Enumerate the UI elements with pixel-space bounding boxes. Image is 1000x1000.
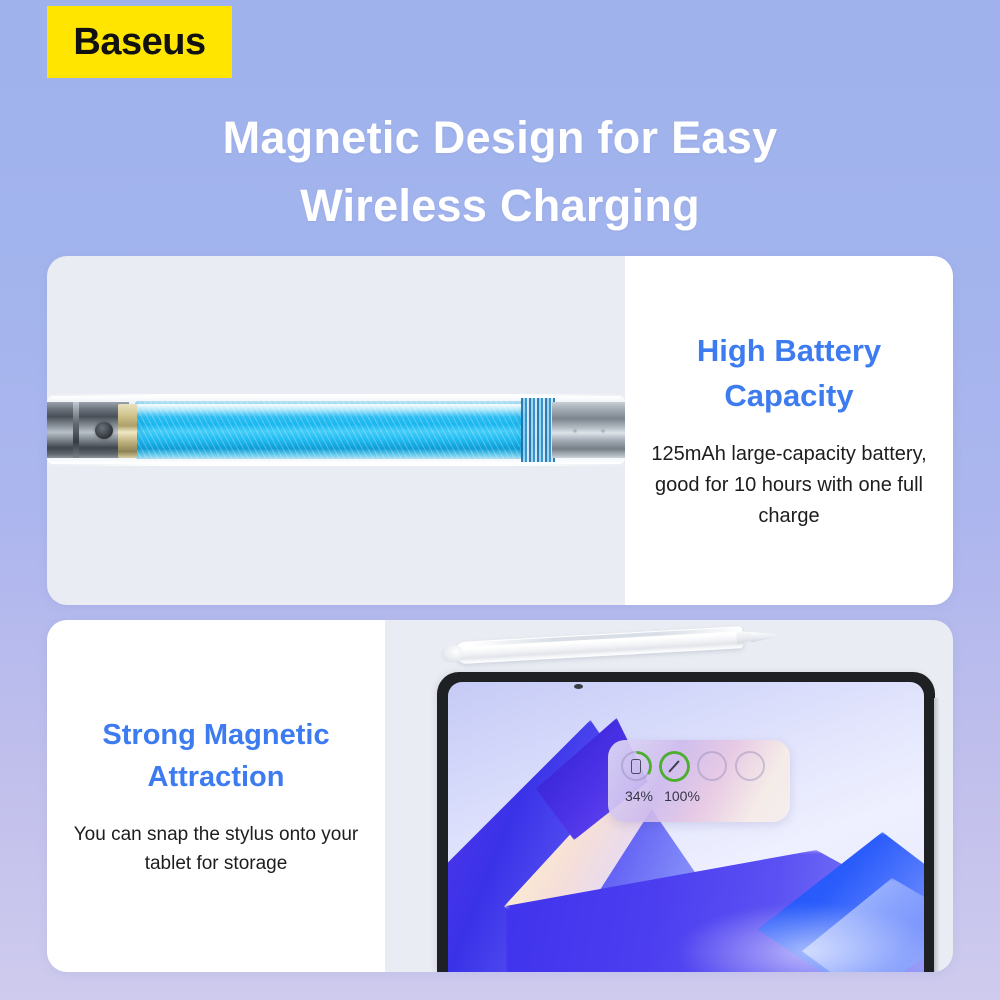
feature-title-battery: High Battery Capacity (641, 329, 937, 419)
stylus-coil-detail (521, 398, 555, 462)
page-headline: Magnetic Design for Easy Wireless Chargi… (0, 104, 1000, 241)
battery-percent-labels: 34% 100% (608, 788, 790, 804)
battery-ring-group (608, 751, 790, 781)
battery-ring-tablet (621, 751, 651, 781)
stylus-cutaway-image (47, 256, 625, 605)
tablet-device: 34% 100% (437, 672, 935, 972)
stylus-brass-contact (118, 404, 137, 458)
stylus-bottom-highlight (47, 463, 625, 466)
feature-text-panel-magnet: Strong Magnetic Attraction You can snap … (47, 620, 385, 972)
stylus-cutaway-illustration (47, 384, 625, 476)
product-feature-page: Baseus Magnetic Design for Easy Wireless… (0, 0, 1000, 1000)
feature-card-strong-magnetic-attraction: Strong Magnetic Attraction You can snap … (47, 620, 953, 972)
stylus-cap-ring (73, 402, 79, 458)
brand-logo: Baseus (47, 6, 232, 78)
feature-body-battery: 125mAh large-capacity battery, good for … (641, 439, 937, 532)
battery-percent-tablet: 34% (619, 788, 659, 804)
feature-card-high-battery-capacity: High Battery Capacity 125mAh large-capac… (47, 256, 953, 605)
battery-ring-empty-slot (735, 751, 765, 781)
feature-text-panel-battery: High Battery Capacity 125mAh large-capac… (625, 256, 953, 605)
stylus-flat-edge (472, 627, 742, 646)
brand-logo-text: Baseus (73, 21, 205, 64)
stylus-body (454, 626, 743, 664)
battery-percent-stylus: 100% (659, 788, 705, 804)
headline-line-1: Magnetic Design for Easy (0, 104, 1000, 172)
tablet-stylus-image: 34% 100% (385, 620, 953, 972)
tablet-icon (621, 751, 651, 781)
ring-track (697, 751, 727, 781)
stylus-top-highlight (47, 394, 625, 397)
battery-cell-gloss (135, 404, 525, 417)
feature-title-magnet: Strong Magnetic Attraction (61, 714, 371, 798)
pencil-icon (659, 751, 689, 781)
stylus-magnet-dot (95, 422, 113, 439)
tablet-screen: 34% 100% (448, 682, 924, 972)
tablet-side-frame (934, 698, 940, 972)
stylus-tip (750, 630, 781, 643)
battery-cell-cyan (135, 401, 525, 459)
ring-track (735, 751, 765, 781)
tablet-scene: 34% 100% (385, 620, 953, 972)
headline-line-2: Wireless Charging (0, 172, 1000, 240)
stylus-metal-cap-left (47, 402, 129, 458)
battery-status-widget[interactable]: 34% 100% (608, 740, 790, 822)
attached-stylus (440, 624, 781, 665)
wallpaper-glow (678, 904, 924, 972)
feature-body-magnet: You can snap the stylus onto your tablet… (61, 820, 371, 879)
tablet-front-camera-icon (574, 684, 583, 689)
battery-ring-stylus (659, 751, 689, 781)
battery-ring-empty-slot (697, 751, 727, 781)
stylus-cap-dots (567, 424, 617, 438)
